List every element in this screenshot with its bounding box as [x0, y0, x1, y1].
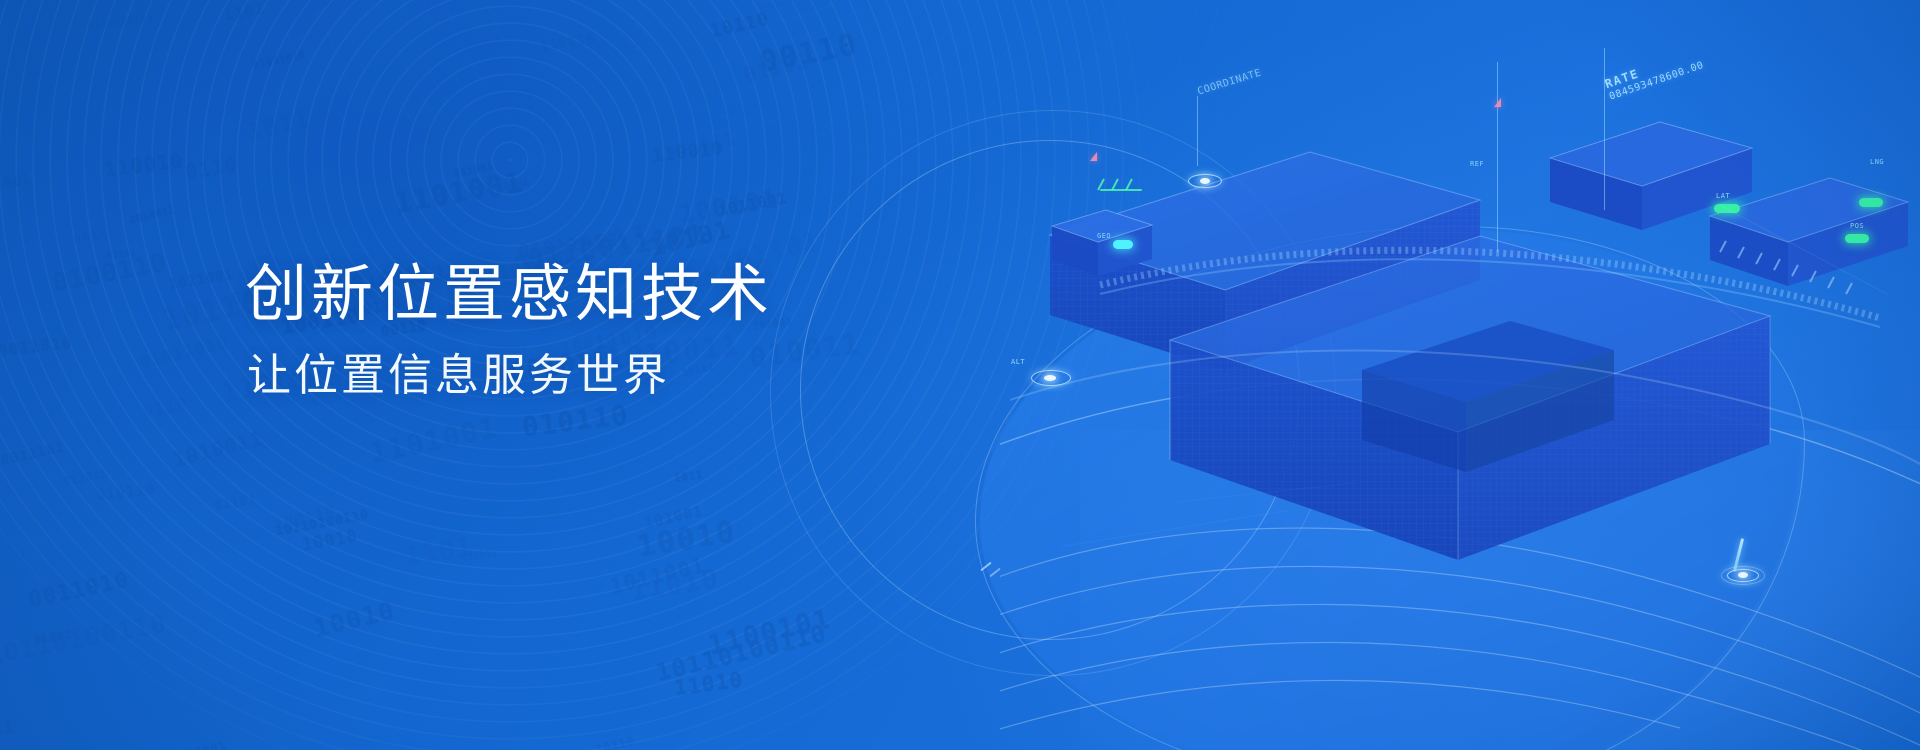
page-title: 创新位置感知技术: [245, 258, 773, 331]
hero-copy-block: 创新位置感知技术 让位置信息服务世界: [245, 258, 773, 404]
hero-banner: 1011010011001001101100110011001011010110…: [0, 0, 1920, 750]
page-subtitle: 让位置信息服务世界: [247, 347, 773, 404]
